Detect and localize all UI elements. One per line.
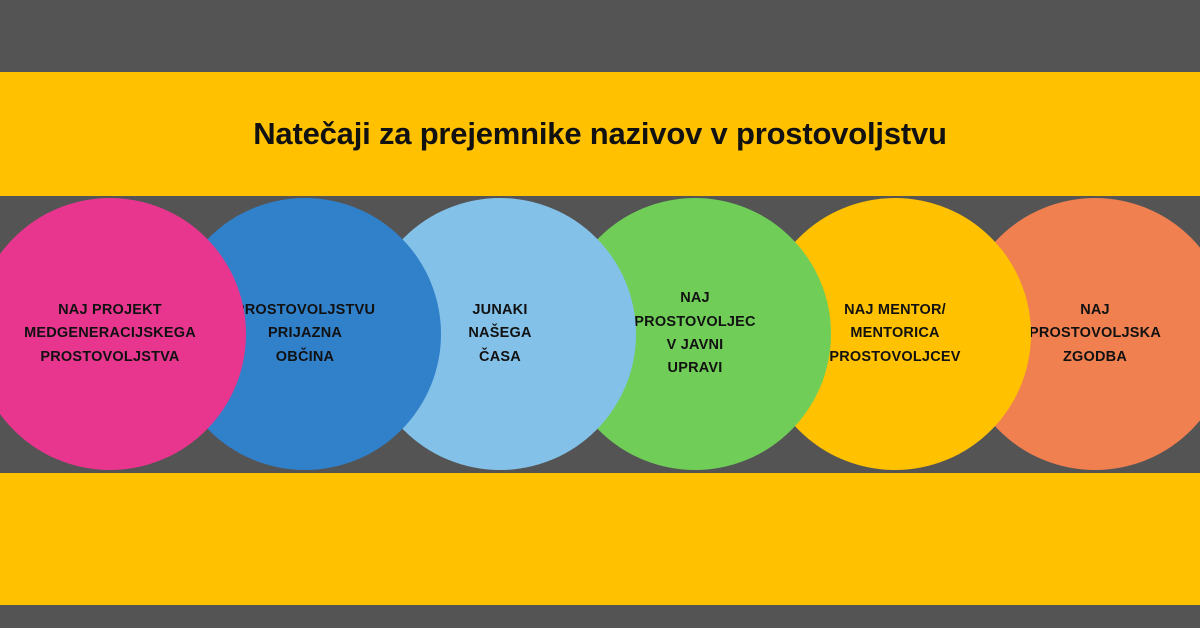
circle-label-line: PROSTOVOLJSTVA [0,346,240,369]
circle-label-line: MEDGENERACIJSKEGA [0,322,240,345]
circle-label: NAJ PROJEKTMEDGENERACIJSKEGAPROSTOVOLJST… [0,299,246,369]
page-title: Natečaji za prejemnike nazivov v prostov… [0,72,1200,196]
circle-label-line: NAJ PROJEKT [0,299,240,322]
poster-root: Natečaji za prejemnike nazivov v prostov… [0,0,1200,628]
top-banner: Natečaji za prejemnike nazivov v prostov… [0,72,1200,196]
bottom-banner: SLOVENSKA MREŽA PROSTOVOLJSKIH ORGANIZAC… [0,473,1200,605]
circles-band: NAJ PROJEKTMEDGENERACIJSKEGAPROSTOVOLJST… [0,196,1200,473]
